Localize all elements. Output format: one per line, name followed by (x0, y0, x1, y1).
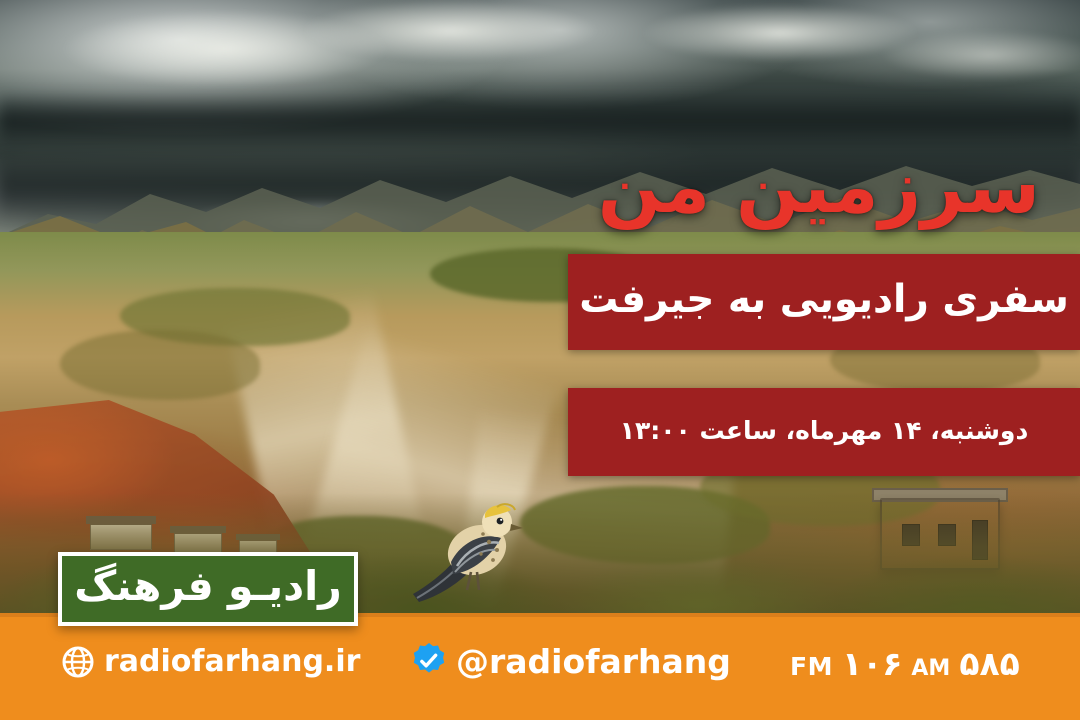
subtitle-band: سفری رادیویی به جیرفت (568, 254, 1080, 350)
subtitle-text: سفری رادیویی به جیرفت (579, 280, 1069, 325)
airtime-text: دوشنبه، ۱۴ مهرماه، ساعت ۱۳:۰۰ (620, 418, 1029, 447)
cloud-wisp (640, 4, 920, 62)
cloud-wisp (300, 0, 600, 62)
station-logo: رادیـو فرهنگ (58, 552, 358, 626)
fm-label: FM (790, 652, 833, 681)
twitter-block[interactable]: @radiofarhang (410, 642, 731, 680)
station-logo-label: رادیـو فرهنگ (74, 566, 342, 613)
website-url: radiofarhang.ir (104, 647, 360, 677)
cloud-band (0, 92, 1080, 150)
fm-value: ۱۰۶ (842, 644, 902, 683)
twitter-verified-icon (410, 642, 448, 680)
am-value: ۵۸۵ (959, 644, 1019, 683)
website-block[interactable]: radiofarhang.ir (62, 646, 360, 678)
am-label: AM (911, 656, 950, 681)
airtime-band: دوشنبه، ۱۴ مهرماه، ساعت ۱۳:۰۰ (568, 388, 1080, 476)
frequency-block: FM ۱۰۶ AM ۵۸۵ (790, 644, 1020, 683)
program-title-wrap: سرزمین من (574, 150, 1080, 224)
cloud-wisp (880, 30, 1080, 80)
globe-icon (62, 646, 94, 678)
bird-illustration (405, 498, 525, 610)
twitter-handle: @radiofarhang (456, 645, 731, 678)
landscape-photo: سرزمین من سفری رادیویی به جیرفت دوشنبه، … (0, 0, 1080, 613)
page-title: سرزمین من (574, 150, 1080, 224)
radio-program-poster: سرزمین من سفری رادیویی به جیرفت دوشنبه، … (0, 0, 1080, 720)
